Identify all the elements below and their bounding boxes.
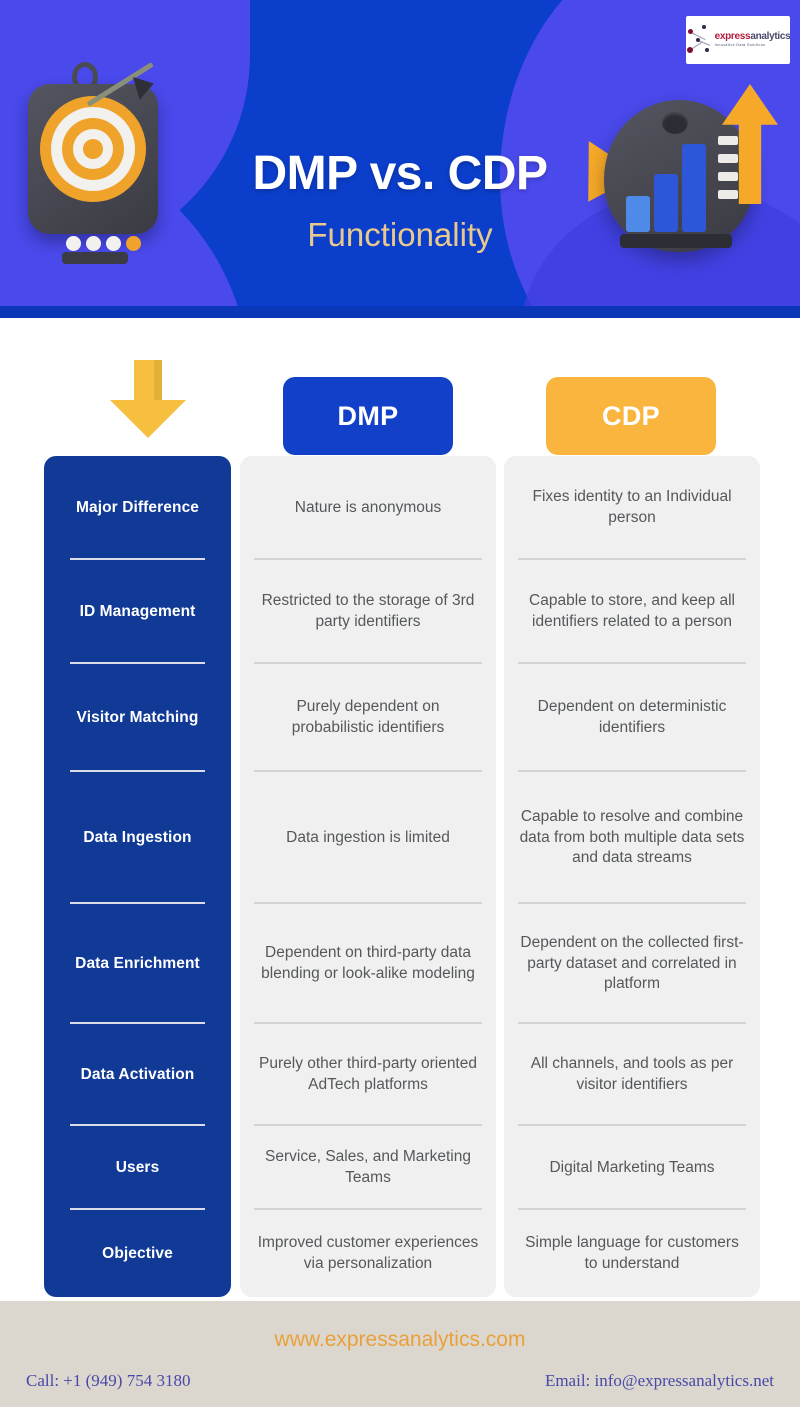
- label-text: Objective: [102, 1245, 173, 1263]
- hero-banner: DMP vs. CDP Functionality expressanalyti…: [0, 0, 800, 318]
- table-cell: Simple language for customers to underst…: [504, 1210, 760, 1297]
- table-cell: Service, Sales, and Marketing Teams: [240, 1126, 496, 1210]
- cell-text: Dependent on the collected first-party d…: [518, 933, 746, 996]
- chart-lens-icon: [662, 112, 688, 134]
- hero-title-group: DMP vs. CDP Functionality: [0, 150, 800, 251]
- row-label-major-difference: Major Difference: [44, 456, 231, 560]
- label-text: Data Ingestion: [83, 829, 191, 847]
- table-cell: All channels, and tools as per visitor i…: [504, 1024, 760, 1126]
- cell-text: Dependent on third-party data blending o…: [254, 943, 482, 985]
- footer-website-link[interactable]: www.expressanalytics.com: [0, 1328, 800, 1352]
- row-label-visitor-matching: Visitor Matching: [44, 664, 231, 772]
- logo-inner: expressanalytics Innovative Data Solutio…: [686, 23, 790, 57]
- logo-wordmark: expressanalytics: [715, 32, 790, 42]
- footer-email[interactable]: Email: info@expressanalytics.net: [545, 1371, 774, 1391]
- cell-text: Service, Sales, and Marketing Teams: [254, 1147, 482, 1189]
- logo-wordmark-secondary: analytics: [750, 31, 790, 42]
- footer-phone[interactable]: Call: +1 (949) 754 3180: [26, 1371, 190, 1391]
- cell-text: Dependent on deterministic identifiers: [518, 697, 746, 739]
- cell-text: Purely dependent on probabilistic identi…: [254, 697, 482, 739]
- table-cell: Digital Marketing Teams: [504, 1126, 760, 1210]
- chart-tick-1: [718, 136, 738, 145]
- table-cell: Capable to store, and keep all identifie…: [504, 560, 760, 664]
- column-header-dmp[interactable]: DMP: [283, 377, 453, 455]
- cell-text: Improved customer experiences via person…: [254, 1233, 482, 1275]
- cell-text: Digital Marketing Teams: [549, 1158, 714, 1179]
- cell-text: Restricted to the storage of 3rd party i…: [254, 591, 482, 633]
- table-cell: Restricted to the storage of 3rd party i…: [240, 560, 496, 664]
- table-cell: Dependent on third-party data blending o…: [240, 904, 496, 1024]
- hero-bottom-band: [0, 306, 800, 318]
- cell-text: Data ingestion is limited: [286, 828, 450, 849]
- brand-logo[interactable]: expressanalytics Innovative Data Solutio…: [686, 16, 790, 64]
- row-label-users: Users: [44, 1126, 231, 1210]
- table-cell: Dependent on deterministic identifiers: [504, 664, 760, 772]
- label-text: ID Management: [80, 603, 196, 621]
- page-title: DMP vs. CDP: [0, 150, 800, 198]
- cell-text: Purely other third-party oriented AdTech…: [254, 1054, 482, 1096]
- row-label-objective: Objective: [44, 1210, 231, 1297]
- column-cdp-values: Fixes identity to an Individual person C…: [504, 456, 760, 1297]
- column-dmp-values: Nature is anonymous Restricted to the st…: [240, 456, 496, 1297]
- cell-text: Nature is anonymous: [295, 498, 441, 519]
- footer: www.expressanalytics.com Call: +1 (949) …: [0, 1301, 800, 1407]
- cell-text: Fixes identity to an Individual person: [518, 487, 746, 529]
- logo-network-icon: [686, 23, 712, 57]
- page-subtitle: Functionality: [0, 218, 800, 251]
- table-cell: Nature is anonymous: [240, 456, 496, 560]
- logo-wordmark-primary: express: [715, 31, 751, 42]
- row-label-data-activation: Data Activation: [44, 1024, 231, 1126]
- table-cell: Fixes identity to an Individual person: [504, 456, 760, 560]
- cell-text: Capable to resolve and combine data from…: [518, 807, 746, 870]
- table-cell: Purely other third-party oriented AdTech…: [240, 1024, 496, 1126]
- row-label-data-ingestion: Data Ingestion: [44, 772, 231, 904]
- down-arrow-icon: [110, 360, 186, 438]
- label-text: Visitor Matching: [77, 709, 199, 727]
- label-text: Major Difference: [76, 499, 199, 517]
- cell-text: Simple language for customers to underst…: [518, 1233, 746, 1275]
- table-cell: Capable to resolve and combine data from…: [504, 772, 760, 904]
- footer-contact-row: Call: +1 (949) 754 3180 Email: info@expr…: [26, 1371, 774, 1391]
- label-text: Data Activation: [81, 1066, 195, 1084]
- column-row-labels: Major Difference ID Management Visitor M…: [44, 456, 231, 1297]
- logo-text: expressanalytics Innovative Data Solutio…: [715, 32, 790, 48]
- cell-text: All channels, and tools as per visitor i…: [518, 1054, 746, 1096]
- table-cell: Data ingestion is limited: [240, 772, 496, 904]
- label-text: Users: [116, 1159, 160, 1177]
- table-cell: Dependent on the collected first-party d…: [504, 904, 760, 1024]
- cell-text: Capable to store, and keep all identifie…: [518, 591, 746, 633]
- target-base: [62, 252, 128, 264]
- row-label-id-management: ID Management: [44, 560, 231, 664]
- column-header-cdp[interactable]: CDP: [546, 377, 716, 455]
- label-text: Data Enrichment: [75, 955, 200, 973]
- row-label-data-enrichment: Data Enrichment: [44, 904, 231, 1024]
- logo-tagline: Innovative Data Solutions: [715, 44, 790, 48]
- table-cell: Purely dependent on probabilistic identi…: [240, 664, 496, 772]
- comparison-table: Major Difference ID Management Visitor M…: [0, 456, 800, 1301]
- table-cell: Improved customer experiences via person…: [240, 1210, 496, 1297]
